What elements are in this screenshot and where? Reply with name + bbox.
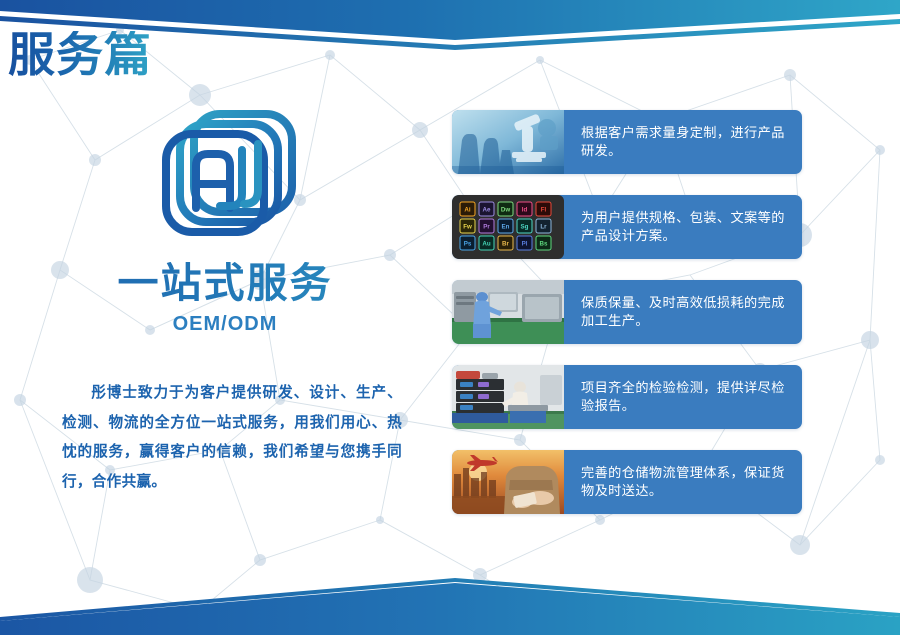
left-content-column: 服务篇 — [0, 0, 450, 635]
feature-card-text: 完善的仓储物流管理体系，保证货物及时送达。 — [564, 450, 802, 514]
adobe-software-grid-photo: AiAeDwIdFlFwPrEnSgLrPsAuBrPlBs — [452, 195, 564, 259]
page-title: 服务篇 — [8, 31, 152, 78]
feature-card-text: 项目齐全的检验检测，提供详尽检验报告。 — [564, 365, 802, 429]
adobe-icon-label: Ps — [464, 241, 472, 248]
feature-card-inspection[interactable]: 项目齐全的检验检测，提供详尽检验报告。 — [452, 365, 802, 429]
feature-card-text: 根据客户需求量身定制，进行产品研发。 — [564, 110, 802, 174]
cleanroom-worker-photo — [452, 280, 564, 344]
adobe-icon-label: En — [502, 224, 510, 231]
adobe-icon-label: Pr — [483, 224, 490, 231]
adobe-icon-label: Id — [522, 207, 528, 214]
feature-card-text: 为用户提供规格、包装、文案等的产品设计方案。 — [564, 195, 802, 259]
air-freight-logistics-photo — [452, 450, 564, 514]
adobe-icon-label: Fw — [463, 224, 472, 231]
headline: 一站式服务 — [0, 262, 450, 305]
adobe-icon-label: Fl — [541, 207, 547, 214]
adobe-icon-label: Ai — [464, 207, 470, 214]
feature-card-list: 根据客户需求量身定制，进行产品研发。 AiAeDwIdFlFwPrEnSgLrP… — [452, 110, 802, 514]
one-stop-service-logo — [152, 104, 312, 244]
feature-card-design[interactable]: AiAeDwIdFlFwPrEnSgLrPsAuBrPlBs 为用户提供规格、包… — [452, 195, 802, 259]
lab-testing-equipment-photo — [452, 365, 564, 429]
adobe-icon-label: Pl — [522, 241, 528, 248]
body-paragraph: 彤博士致力于为客户提供研发、设计、生产、检测、物流的全方位一站式服务，用我们用心… — [62, 379, 402, 499]
adobe-icon-label: Au — [482, 241, 490, 248]
adobe-icon-label: Sg — [521, 224, 529, 231]
feature-card-rd[interactable]: 根据客户需求量身定制，进行产品研发。 — [452, 110, 802, 174]
feature-card-logistics[interactable]: 完善的仓储物流管理体系，保证货物及时送达。 — [452, 450, 802, 514]
feature-card-text: 保质保量、及时高效低损耗的完成加工生产。 — [564, 280, 802, 344]
microscope-lab-photo — [452, 110, 564, 174]
adobe-icon-label: Ae — [483, 207, 491, 214]
adobe-icon-label: Bs — [540, 241, 548, 248]
adobe-icon-label: Lr — [540, 224, 547, 231]
feature-card-production[interactable]: 保质保量、及时高效低损耗的完成加工生产。 — [452, 280, 802, 344]
subheadline: OEM/ODM — [0, 313, 450, 336]
adobe-icon-label: Br — [502, 241, 509, 248]
poster-page: 服务篇 — [0, 0, 900, 635]
adobe-icon-label: Dw — [501, 207, 510, 214]
